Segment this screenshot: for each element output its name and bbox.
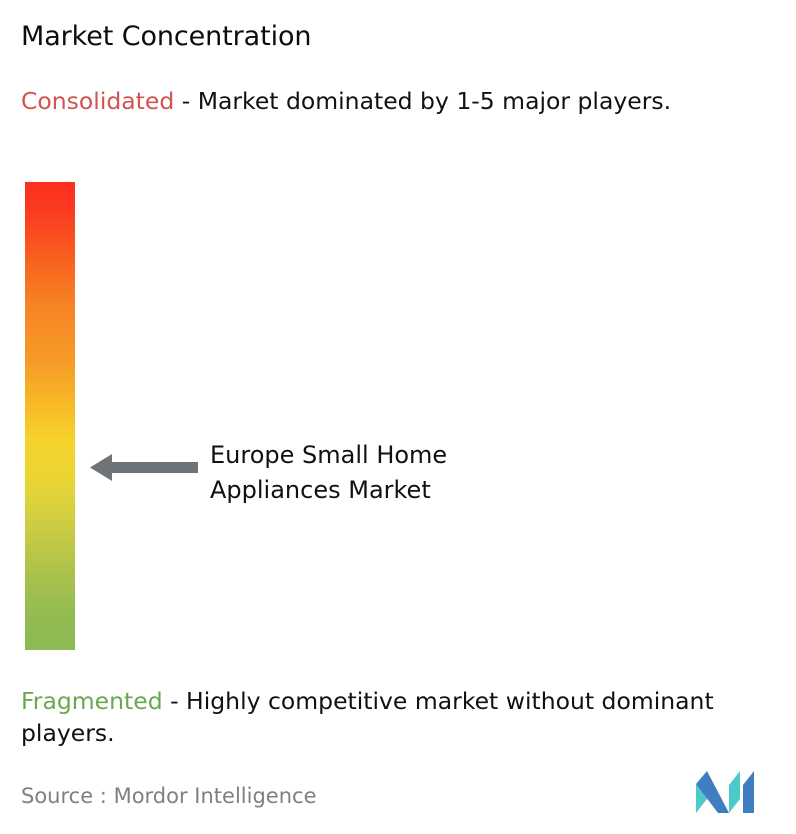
page-title: Market Concentration [21, 20, 311, 54]
legend-term-fragmented: Fragmented [21, 687, 163, 715]
legend-separator-top [174, 87, 181, 115]
marker-label: Europe Small Home Appliances Market [210, 438, 630, 508]
source-attribution: Source : Mordor Intelligence [21, 783, 316, 809]
legend-fragmented: Fragmented - Highly competitive market w… [21, 685, 781, 749]
mordor-intelligence-logo [696, 771, 754, 813]
concentration-gradient-bar [25, 182, 75, 650]
source-label: Source : [21, 784, 107, 808]
marker-label-line-2: Appliances Market [210, 473, 630, 508]
arrow-left-icon [90, 452, 198, 483]
legend-description-consolidated: - Market dominated by 1-5 major players. [182, 87, 671, 115]
legend-term-consolidated: Consolidated [21, 87, 174, 115]
marker-label-line-1: Europe Small Home [210, 438, 630, 473]
market-concentration-chart: Market Concentration Consolidated - Mark… [0, 0, 796, 834]
source-value: Mordor Intelligence [114, 784, 317, 808]
legend-consolidated: Consolidated - Market dominated by 1-5 m… [21, 85, 773, 117]
legend-separator-bottom [163, 687, 170, 715]
marker-arrow [90, 452, 198, 483]
mordor-logo-icon [696, 771, 754, 813]
